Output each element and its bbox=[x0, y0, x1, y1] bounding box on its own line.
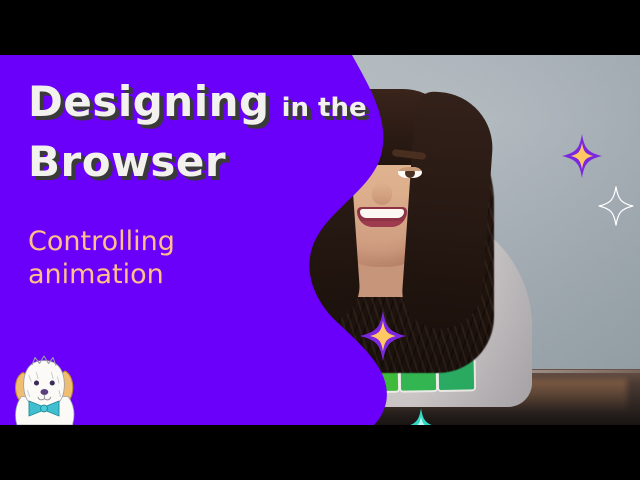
letterbox-bottom bbox=[0, 425, 640, 480]
video-frame: Designingin the Browser Controlling anim… bbox=[0, 55, 640, 425]
letterbox-top bbox=[0, 0, 640, 55]
doodle-dog-logo bbox=[6, 353, 82, 425]
purple-brand-panel bbox=[0, 55, 640, 425]
video-player-stage: Designingin the Browser Controlling anim… bbox=[0, 0, 640, 480]
